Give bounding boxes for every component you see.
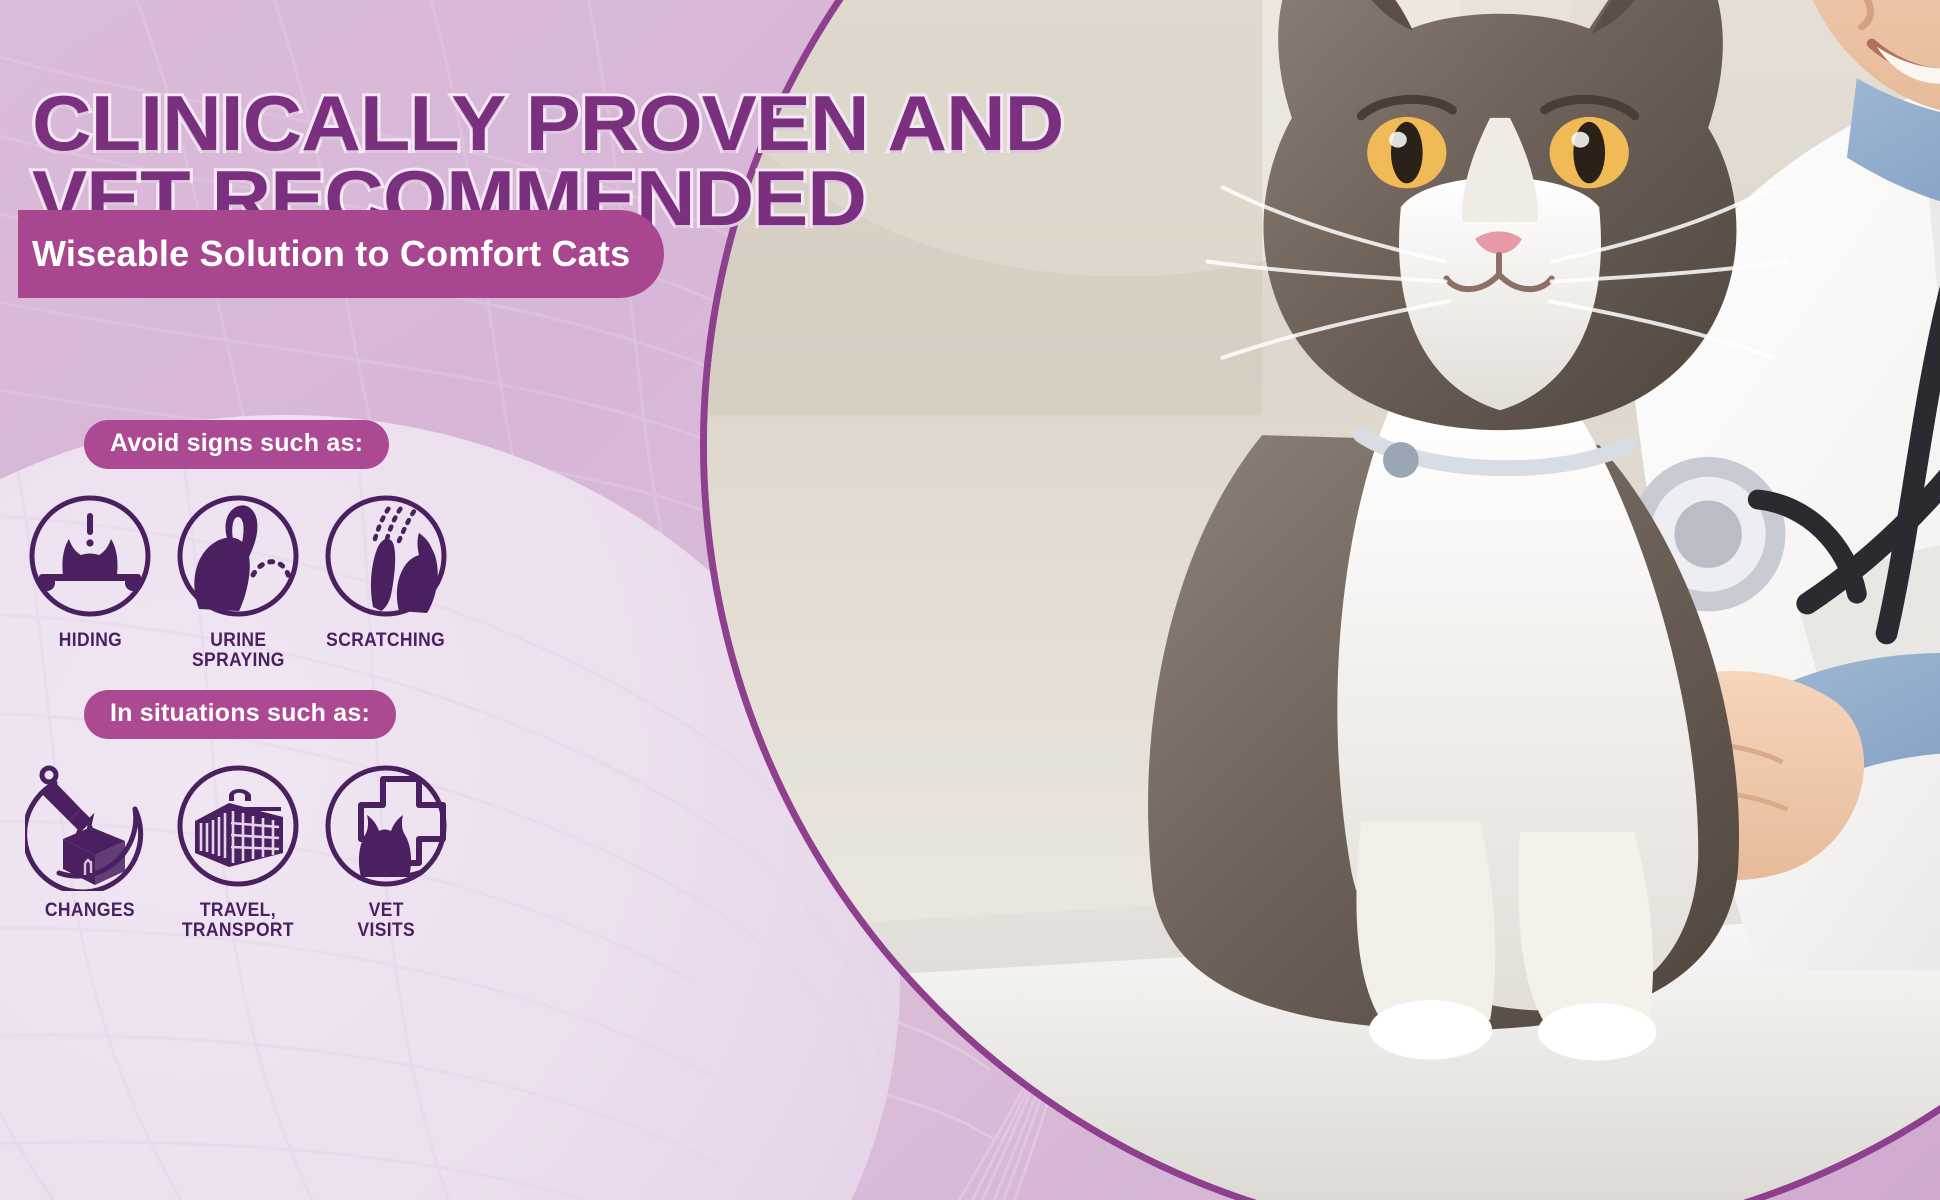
section-in-situations: In situations such as: [0, 690, 640, 941]
cat-urine-spraying-icon [173, 491, 303, 621]
subtitle-text: Wiseable Solution to Comfort Cats [32, 233, 630, 275]
section-avoid-signs: Avoid signs such as: [0, 420, 640, 671]
icon-row-avoid-signs: HIDING URINE SPRAYING [0, 491, 640, 671]
icon-item-urine-spraying[interactable]: URINE SPRAYING [164, 491, 312, 671]
paintbrush-moving-box-icon [25, 761, 155, 891]
icon-row-in-situations: CHANGES [0, 761, 640, 941]
section-pill-in-situations: In situations such as: [84, 690, 396, 739]
icon-label-scratching: SCRATCHING [327, 631, 446, 651]
icon-item-travel-transport[interactable]: TRAVEL, TRANSPORT [164, 761, 312, 941]
pet-carrier-icon [173, 761, 303, 891]
icon-label-changes: CHANGES [45, 901, 135, 921]
subtitle-banner: Wiseable Solution to Comfort Cats [18, 210, 664, 298]
promo-banner: CLINICALLY PROVEN AND VET RECOMMENDED Wi… [0, 0, 1940, 1200]
section-pill-avoid-signs: Avoid signs such as: [84, 420, 389, 469]
icon-label-urine-spraying: URINE SPRAYING [192, 631, 285, 671]
medical-cross-cat-icon [321, 761, 451, 891]
icon-label-hiding: HIDING [58, 631, 121, 651]
icon-label-travel-transport: TRAVEL, TRANSPORT [182, 901, 294, 941]
icon-item-changes[interactable]: CHANGES [16, 761, 164, 941]
icon-label-vet-visits: VET VISITS [357, 901, 415, 941]
icon-item-hiding[interactable]: HIDING [16, 491, 164, 671]
cat-scratching-icon [321, 491, 451, 621]
icon-item-scratching[interactable]: SCRATCHING [312, 491, 460, 671]
icon-item-vet-visits[interactable]: VET VISITS [312, 761, 460, 941]
cat-hiding-under-table-icon [25, 491, 155, 621]
